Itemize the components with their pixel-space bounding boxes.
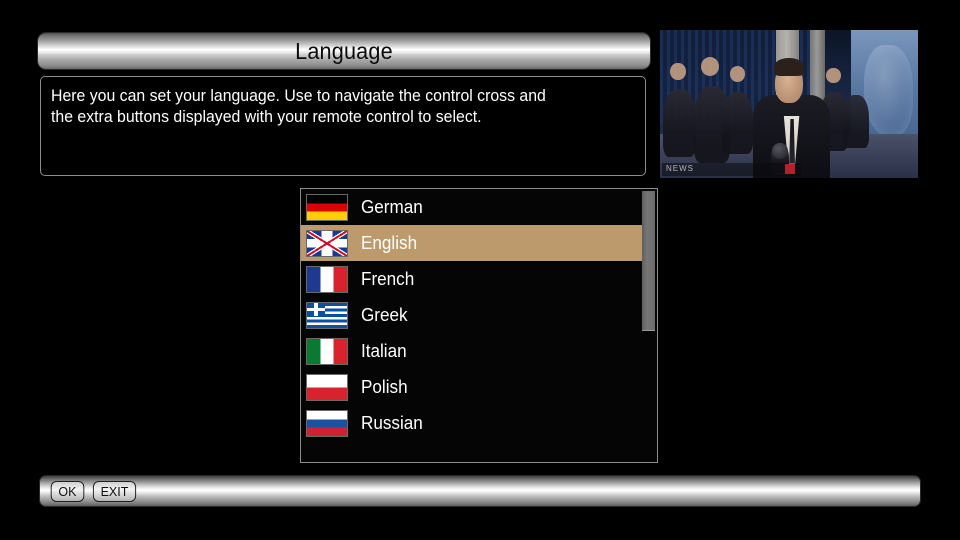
flag-italy-icon: [306, 338, 348, 365]
language-list-item-label: Russian: [361, 413, 423, 434]
flag-russia-icon: [306, 410, 348, 437]
flag-greece-icon: [306, 302, 348, 329]
description-text: Here you can set your language. Use to n…: [51, 86, 610, 128]
language-list-item[interactable]: Polish: [301, 369, 643, 405]
video-reporter-hair: [774, 58, 805, 76]
video-crowd-head: [701, 57, 719, 76]
video-crowd-head: [730, 66, 745, 82]
language-list-item[interactable]: Italian: [301, 333, 643, 369]
video-crowd-figure: [722, 92, 753, 154]
flag-germany-icon: [306, 194, 348, 221]
news-bug-marker: [785, 164, 795, 174]
language-list-item[interactable]: German: [301, 189, 643, 225]
language-list-item-label: French: [361, 269, 414, 290]
scrollbar-thumb[interactable]: [642, 191, 655, 331]
language-list-item-label: Greek: [361, 305, 408, 326]
tv-settings-screen: Language Here you can set your language.…: [0, 0, 960, 540]
language-list-item[interactable]: Russian: [301, 405, 643, 441]
flag-united-kingdom-icon: [306, 230, 348, 257]
footer-softkey-bar: OKEXIT: [40, 476, 920, 506]
video-crowd-head: [670, 63, 685, 81]
video-news-bug: NEWS: [662, 163, 801, 176]
language-list-panel[interactable]: GermanEnglishFrenchGreekItalianPolishRus…: [300, 188, 658, 463]
video-wall-emblem: [864, 45, 913, 137]
language-list-item[interactable]: English: [301, 225, 643, 261]
video-crowd-head: [826, 68, 840, 83]
scrollbar-track[interactable]: [642, 191, 655, 462]
video-crowd-figure: [843, 95, 869, 148]
video-crowd-figure: [663, 89, 697, 157]
flag-france-icon: [306, 266, 348, 293]
language-list-item-label: Italian: [361, 341, 407, 362]
description-box: Here you can set your language. Use to n…: [40, 76, 646, 176]
language-list-item[interactable]: Greek: [301, 297, 643, 333]
language-list-item-label: Polish: [361, 377, 408, 398]
language-list-item-label: German: [361, 197, 423, 218]
exit-button[interactable]: EXIT: [93, 481, 136, 502]
video-microphone-head: [772, 143, 787, 159]
language-list: GermanEnglishFrenchGreekItalianPolishRus…: [301, 189, 643, 441]
page-title: Language: [295, 38, 393, 65]
ok-button[interactable]: OK: [51, 481, 84, 502]
news-bug-label: NEWS: [666, 164, 694, 173]
title-bar: Language: [38, 33, 650, 69]
flag-poland-icon: [306, 374, 348, 401]
video-preview[interactable]: NEWS: [660, 30, 918, 178]
language-list-item[interactable]: French: [301, 261, 643, 297]
language-list-item-label: English: [361, 233, 417, 254]
